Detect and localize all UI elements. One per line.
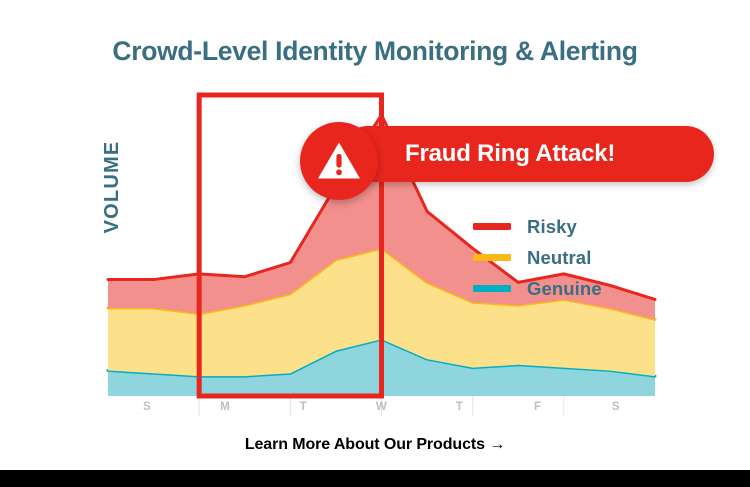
x-axis-tick-labels: S M T W T F S [108, 401, 655, 421]
footer-bar [0, 470, 750, 487]
legend-item-risky[interactable]: Risky [473, 211, 683, 242]
learn-more-link[interactable]: Learn More About Our Products → [0, 436, 750, 454]
legend-swatch-genuine [473, 285, 511, 292]
alert-label: Fraud Ring Attack! [405, 126, 615, 182]
x-tick-5: F [499, 401, 577, 421]
chart-legend: Risky Neutral Genuine [473, 211, 683, 304]
legend-swatch-neutral [473, 254, 511, 261]
legend-swatch-risky [473, 223, 511, 230]
x-tick-2: T [264, 401, 342, 421]
x-tick-0: S [108, 401, 186, 421]
legend-label-risky: Risky [527, 216, 577, 238]
x-tick-1: M [186, 401, 264, 421]
legend-item-genuine[interactable]: Genuine [473, 273, 683, 304]
warning-triangle-icon [300, 122, 378, 200]
legend-item-neutral[interactable]: Neutral [473, 242, 683, 273]
content-card: Crowd-Level Identity Monitoring & Alerti… [0, 0, 750, 470]
x-tick-3: W [342, 401, 420, 421]
x-tick-6: S [577, 401, 655, 421]
legend-label-neutral: Neutral [527, 247, 591, 269]
legend-label-genuine: Genuine [527, 278, 602, 300]
infographic-canvas: Crowd-Level Identity Monitoring & Alerti… [0, 0, 750, 487]
x-tick-4: T [421, 401, 499, 421]
